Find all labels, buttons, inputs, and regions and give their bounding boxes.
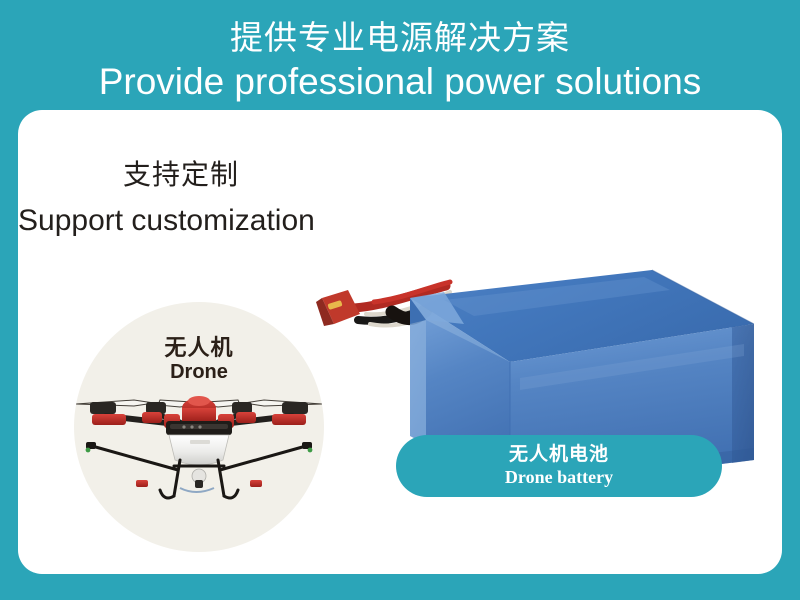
product-banner-slide: 提供专业电源解决方案 Provide professional power so… (0, 0, 800, 600)
subheading-chinese: 支持定制 (123, 158, 239, 192)
drone-icon (74, 384, 324, 504)
subheading-english: Support customization (18, 202, 315, 240)
content-panel: 支持定制 Support customization 无人机 Drone (18, 110, 782, 574)
drone-badge: 无人机 Drone (74, 302, 324, 552)
headline-english: Provide professional power solutions (0, 60, 800, 104)
headline-chinese: 提供专业电源解决方案 (0, 19, 800, 57)
drone-label-english: Drone (74, 360, 324, 384)
pill-label-english: Drone battery (396, 466, 722, 489)
drone-battery-button[interactable]: 无人机电池 Drone battery (396, 435, 722, 497)
drone-label-chinese: 无人机 (74, 335, 324, 361)
pill-label-chinese: 无人机电池 (396, 443, 722, 467)
banner-header: 提供专业电源解决方案 Provide professional power so… (0, 0, 800, 110)
